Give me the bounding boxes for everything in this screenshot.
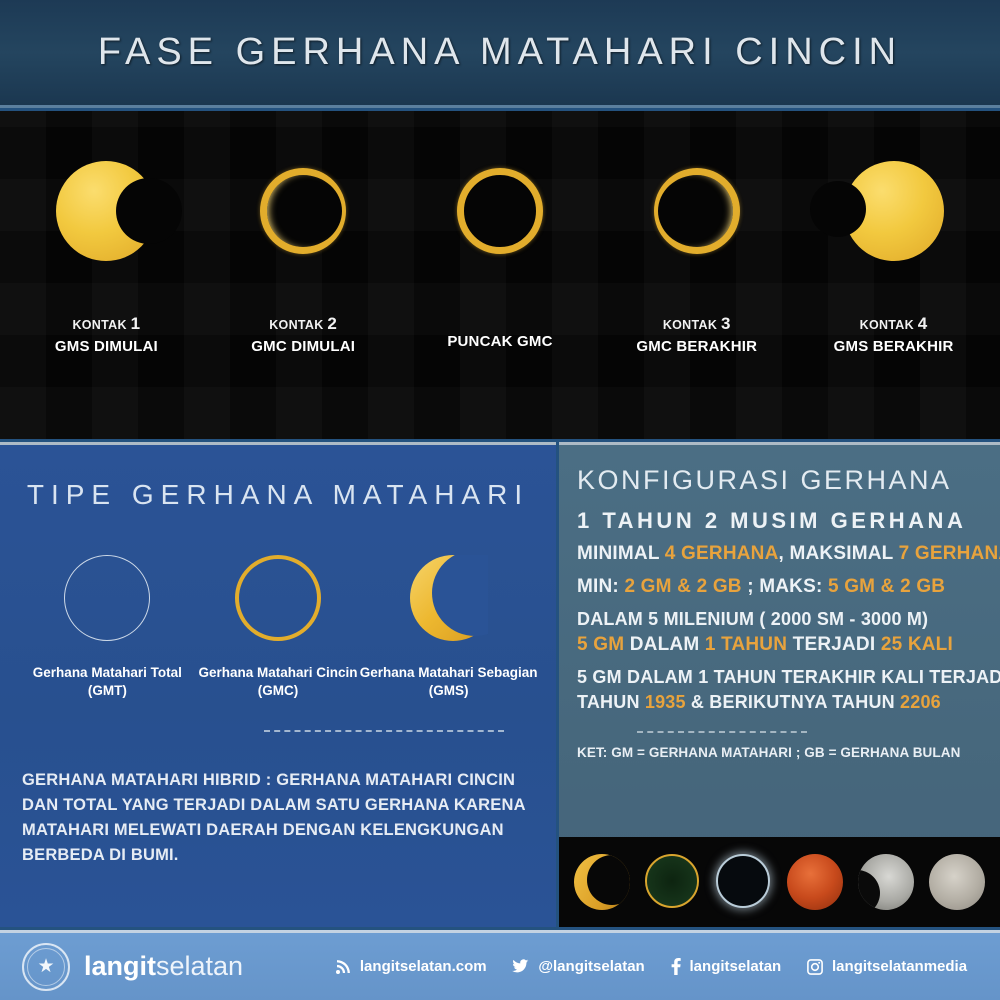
stat-highlight: 2206 xyxy=(900,692,941,712)
stat-highlight: 1 TAHUN xyxy=(705,634,787,655)
phase-name: GMS DIMULAI xyxy=(55,338,158,355)
phase-name: GMS BERAKHIR xyxy=(834,338,954,355)
social-label: langitselatanmedia xyxy=(832,958,967,975)
footer-bar: ★ langitselatan langitselatan.com @langi… xyxy=(0,930,1000,1000)
social-link-twitter[interactable]: @langitselatan xyxy=(512,958,644,975)
hybrid-eclipse-description: GERHANA MATAHARI HIBRID : GERHANA MATAHA… xyxy=(22,768,534,867)
phase-kontak-number: 4 xyxy=(918,314,928,333)
eclipse-type-label: Gerhana Matahari Total (GMT) xyxy=(33,664,182,700)
crescent-icon xyxy=(410,555,488,641)
stat-5gm-per-tahun: 5 GM DALAM 1 TAHUN TERJADI 25 KALI xyxy=(577,632,986,658)
phase-item-3: PUNCAK GMC xyxy=(410,111,590,350)
stat-highlight: 7 GERHANA xyxy=(899,543,1000,564)
stat-terakhir-kali: 5 GM DALAM 1 TAHUN TERAKHIR KALI TERJADI xyxy=(577,665,986,690)
stat-text: TERJADI xyxy=(787,634,881,655)
type-art-partial xyxy=(410,545,488,650)
brand-block[interactable]: ★ langitselatan xyxy=(22,943,322,991)
brand-wordmark: langitselatan xyxy=(84,951,243,982)
type-abbr: (GMS) xyxy=(429,683,469,698)
type-art-annular xyxy=(235,545,321,650)
annular-ring-icon xyxy=(260,168,346,254)
phase-art-annular-ring-thick-left xyxy=(260,111,346,311)
right-panel-divider xyxy=(637,731,807,733)
stat-min-maks: MIN: 2 GM & 2 GB ; MAKS: 5 GM & 2 GB xyxy=(577,574,986,600)
stat-text: MIN: xyxy=(577,576,624,597)
thumbnail-full-moon xyxy=(929,854,985,910)
keterangan-note: KET: GM = GERHANA MATAHARI ; GB = GERHAN… xyxy=(577,745,986,760)
eclipse-type-gmt: Gerhana Matahari Total (GMT) xyxy=(22,545,192,700)
phase-item-4: KONTAK 3 GMC BERAKHIR xyxy=(607,111,787,355)
sun-disk-with-moon-bite-icon xyxy=(56,161,156,261)
brand-light-text: selatan xyxy=(156,951,243,981)
type-name: Gerhana Matahari Cincin xyxy=(198,665,357,680)
phase-name: PUNCAK GMC xyxy=(447,333,552,350)
phase-item-1: KONTAK 1 GMS DIMULAI xyxy=(16,111,196,355)
phase-caption: KONTAK 1 GMS DIMULAI xyxy=(55,313,158,355)
brand-bold-text: langit xyxy=(84,951,156,981)
social-link-facebook[interactable]: langitselatan xyxy=(671,958,782,975)
stat-text: TAHUN xyxy=(577,692,645,712)
stat-highlight: 25 KALI xyxy=(881,634,953,655)
phase-art-sun-partial-bite-left xyxy=(844,111,944,311)
thumbnail-partial-lunar-eclipse xyxy=(858,854,914,910)
thumbnail-total-solar-corona xyxy=(716,854,772,910)
phase-kontak-number: 3 xyxy=(721,314,731,333)
phase-caption: KONTAK 3 GMC BERAKHIR xyxy=(636,313,757,355)
social-link-instagram[interactable]: langitselatanmedia xyxy=(807,958,967,975)
eclipse-type-gms: Gerhana Matahari Sebagian (GMS) xyxy=(364,545,534,700)
langitselatan-logo-icon: ★ xyxy=(22,943,70,991)
phase-name: GMC DIMULAI xyxy=(251,338,355,355)
phase-caption: KONTAK 2 GMC DIMULAI xyxy=(251,313,355,355)
social-label: langitselatan.com xyxy=(360,958,487,975)
stat-text: MINIMAL xyxy=(577,543,665,564)
phase-item-5: KONTAK 4 GMS BERAKHIR xyxy=(804,111,984,355)
type-abbr: (GMT) xyxy=(88,683,127,698)
header-banner: FASE GERHANA MATAHARI CINCIN xyxy=(0,0,1000,108)
stat-text: ; MAKS: xyxy=(742,576,828,597)
stat-highlight: 5 GM & 2 GB xyxy=(828,576,945,597)
stat-milenium: DALAM 5 MILENIUM ( 2000 SM - 3000 M) xyxy=(577,607,986,632)
social-link-website[interactable]: langitselatan.com xyxy=(335,958,487,975)
phase-art-annular-ring-even xyxy=(457,111,543,311)
phase-kontak-label: KONTAK 1 xyxy=(55,313,158,335)
konfigurasi-panel-title: KONFIGURASI GERHANA xyxy=(577,465,986,496)
konfigurasi-gerhana-panel: KONFIGURASI GERHANA 1 TAHUN 2 MUSIM GERH… xyxy=(559,442,1000,927)
phase-art-annular-ring-thick-right xyxy=(654,111,740,311)
phase-caption: PUNCAK GMC xyxy=(447,313,552,350)
total-eclipse-circle-icon xyxy=(64,555,150,641)
thumbnail-total-lunar-blood-moon xyxy=(787,854,843,910)
stat-minimal-maksimal: MINIMAL 4 GERHANA, MAKSIMAL 7 GERHANA xyxy=(577,541,986,567)
eclipse-type-label: Gerhana Matahari Sebagian (GMS) xyxy=(360,664,538,700)
stat-text: , MAKSIMAL xyxy=(779,543,899,564)
stat-text: DALAM xyxy=(624,634,705,655)
type-name: Gerhana Matahari Total xyxy=(33,665,182,680)
phase-row: KONTAK 1 GMS DIMULAI KONTAK 2 GMC DIMULA… xyxy=(0,111,1000,439)
type-name: Gerhana Matahari Sebagian xyxy=(360,665,538,680)
konfigurasi-subtitle: 1 TAHUN 2 MUSIM GERHANA xyxy=(577,508,986,534)
instagram-icon xyxy=(807,959,823,975)
facebook-icon xyxy=(671,958,681,975)
infographic-page: FASE GERHANA MATAHARI CINCIN KONTAK 1 GM… xyxy=(0,0,1000,1000)
phase-art-sun-partial-bite-right xyxy=(56,111,156,311)
thumbnail-partial-solar-crescent xyxy=(574,854,630,910)
stat-highlight: 1935 xyxy=(645,692,686,712)
tipe-panel-title: TIPE GERHANA MATAHARI xyxy=(22,479,534,511)
thumbnail-annular-solar-ring xyxy=(645,854,701,910)
twitter-icon xyxy=(512,959,529,974)
phase-kontak-number: 2 xyxy=(327,314,337,333)
annular-ring-icon xyxy=(235,555,321,641)
rss-icon xyxy=(335,959,351,975)
phase-kontak-label: KONTAK 2 xyxy=(251,313,355,335)
page-title: FASE GERHANA MATAHARI CINCIN xyxy=(98,31,902,74)
tipe-gerhana-panel: TIPE GERHANA MATAHARI Gerhana Matahari T… xyxy=(0,442,556,927)
stat-highlight: 5 GM xyxy=(577,634,624,655)
phase-kontak-label: KONTAK 3 xyxy=(636,313,757,335)
phase-name: GMC BERAKHIR xyxy=(636,338,757,355)
eclipse-thumbnail-strip xyxy=(559,837,1000,927)
phase-kontak-number: 1 xyxy=(131,314,141,333)
phase-caption: KONTAK 4 GMS BERAKHIR xyxy=(834,313,954,355)
type-art-total xyxy=(64,545,150,650)
social-label: langitselatan xyxy=(690,958,782,975)
type-abbr: (GMC) xyxy=(258,683,299,698)
eclipse-phases-section: KONTAK 1 GMS DIMULAI KONTAK 2 GMC DIMULA… xyxy=(0,111,1000,439)
stat-highlight: 2 GM & 2 GB xyxy=(624,576,741,597)
left-panel-divider xyxy=(264,730,504,732)
social-label: @langitselatan xyxy=(538,958,644,975)
eclipse-type-gmc: Gerhana Matahari Cincin (GMC) xyxy=(193,545,363,700)
social-links: langitselatan.com @langitselatan langits… xyxy=(322,958,1000,975)
stat-text: & BERIKUTNYA TAHUN xyxy=(686,692,900,712)
eclipse-type-label: Gerhana Matahari Cincin (GMC) xyxy=(198,664,357,700)
annular-ring-icon xyxy=(654,168,740,254)
sun-disk-with-moon-bite-icon xyxy=(844,161,944,261)
phase-kontak-label: KONTAK 4 xyxy=(834,313,954,335)
stat-highlight: 4 GERHANA xyxy=(665,543,779,564)
annular-ring-icon xyxy=(457,168,543,254)
eclipse-type-list: Gerhana Matahari Total (GMT) Gerhana Mat… xyxy=(22,545,534,700)
phase-item-2: KONTAK 2 GMC DIMULAI xyxy=(213,111,393,355)
stat-tahun-berikutnya: TAHUN 1935 & BERIKUTNYA TAHUN 2206 xyxy=(577,690,986,715)
